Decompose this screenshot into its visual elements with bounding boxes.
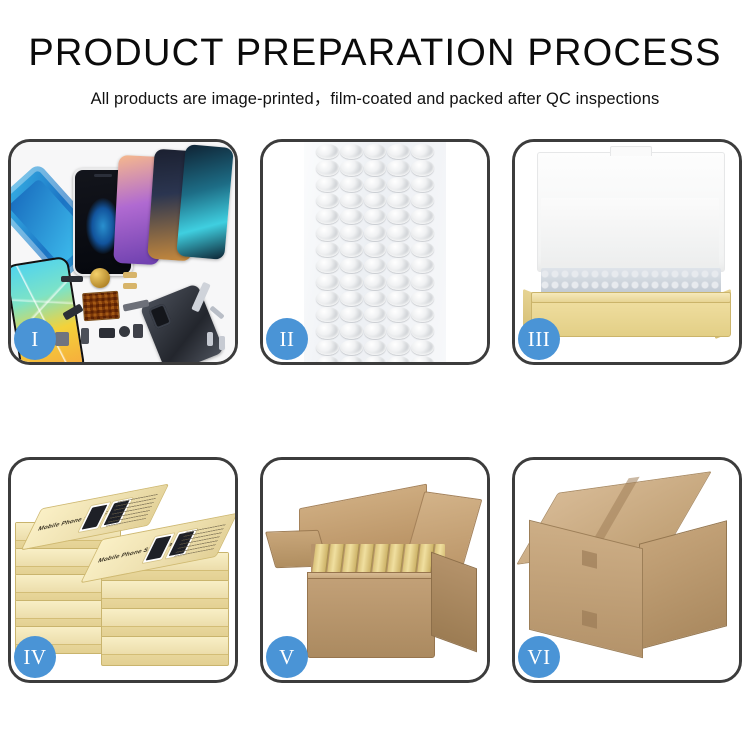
bubble — [387, 193, 410, 208]
carton-front-wall — [307, 578, 435, 658]
bubble — [387, 209, 410, 224]
bubble — [340, 160, 363, 175]
bubble — [340, 258, 363, 273]
bubble — [387, 356, 410, 362]
bubble — [364, 160, 387, 175]
bubble — [316, 340, 339, 355]
bubble — [340, 193, 363, 208]
bubble — [411, 307, 434, 322]
bubble — [411, 225, 434, 240]
bubble — [340, 307, 363, 322]
bubble — [411, 356, 434, 362]
spare-part — [119, 326, 130, 337]
bubble — [364, 356, 387, 362]
bubble — [387, 340, 410, 355]
carton-right-face — [639, 520, 727, 650]
bubble — [387, 144, 410, 159]
bubble — [364, 209, 387, 224]
step-badge-iv: IV — [14, 636, 56, 678]
bubble — [411, 209, 434, 224]
stacked-box — [101, 580, 229, 610]
page-title: PRODUCT PREPARATION PROCESS — [0, 34, 750, 72]
bubble — [316, 242, 339, 257]
bubble — [316, 258, 339, 273]
bubble — [387, 291, 410, 306]
bubble — [364, 274, 387, 289]
bubble — [340, 144, 363, 159]
bubble — [316, 307, 339, 322]
bubble — [316, 225, 339, 240]
step-panel-iv: Mobile Phone Spare Parts Mobile Phone Sp… — [8, 457, 238, 683]
spare-part — [123, 283, 137, 289]
bubble — [340, 356, 363, 362]
bubble — [364, 291, 387, 306]
step-panel-i: I — [8, 139, 238, 365]
bubble — [411, 144, 434, 159]
bubble — [316, 177, 339, 192]
bubble — [387, 242, 410, 257]
step-badge-vi: VI — [518, 636, 560, 678]
step-badge-v: V — [266, 636, 308, 678]
bubble — [411, 242, 434, 257]
mailer-rim — [531, 292, 731, 303]
chip-grid-part — [82, 291, 120, 321]
step-badge-i: I — [14, 318, 56, 360]
bubble-grid — [316, 144, 434, 362]
bubble — [340, 209, 363, 224]
bubble — [340, 225, 363, 240]
spare-part — [99, 328, 115, 338]
stacked-box — [101, 608, 229, 638]
step-panel-iii: III — [512, 139, 742, 365]
bubble — [364, 340, 387, 355]
bubble — [387, 307, 410, 322]
bubble — [316, 356, 339, 362]
bubble — [411, 160, 434, 175]
mailer-front-wall — [531, 297, 731, 337]
carton-side-wall — [431, 552, 477, 653]
phone-back-housing — [139, 283, 224, 362]
bubble — [316, 144, 339, 159]
bubble — [316, 291, 339, 306]
bubble — [411, 274, 434, 289]
bubble — [411, 258, 434, 273]
step-panel-ii: II — [260, 139, 490, 365]
bubble — [316, 323, 339, 338]
step-badge-iii: III — [518, 318, 560, 360]
bubble — [340, 177, 363, 192]
bubble — [387, 160, 410, 175]
bubble — [364, 177, 387, 192]
bubble — [340, 242, 363, 257]
bubble — [387, 225, 410, 240]
bubble — [364, 193, 387, 208]
bubble — [387, 177, 410, 192]
bubble — [411, 193, 434, 208]
bubble — [411, 340, 434, 355]
page-subtitle: All products are image-printed，film-coat… — [0, 85, 750, 109]
steps-grid: I II III — [8, 139, 742, 683]
screw-part — [207, 332, 213, 346]
step-panel-vi: VI — [512, 457, 742, 683]
spare-part — [123, 272, 137, 278]
bubble — [387, 258, 410, 273]
spare-part — [61, 276, 83, 282]
vibration-motor-part — [90, 268, 110, 288]
bubble — [364, 225, 387, 240]
bubble — [316, 193, 339, 208]
step-badge-ii: II — [266, 318, 308, 360]
teal-display-phone — [176, 144, 234, 260]
bubble — [364, 258, 387, 273]
foam-insert — [541, 198, 719, 270]
header: PRODUCT PREPARATION PROCESS All products… — [0, 0, 750, 109]
bubble — [340, 291, 363, 306]
step-panel-v: V — [260, 457, 490, 683]
bubble — [411, 291, 434, 306]
bubble — [387, 323, 410, 338]
bubble — [316, 209, 339, 224]
spare-part — [55, 332, 69, 346]
bubble — [316, 160, 339, 175]
bubble — [340, 274, 363, 289]
bubble — [364, 307, 387, 322]
bubble — [387, 274, 410, 289]
bubble — [411, 177, 434, 192]
spare-part — [133, 324, 143, 338]
bubble — [411, 323, 434, 338]
product-preparation-infographic: PRODUCT PREPARATION PROCESS All products… — [0, 0, 750, 750]
stacked-box — [101, 636, 229, 666]
bubble — [340, 323, 363, 338]
spare-part — [209, 305, 224, 319]
screw-part — [219, 336, 225, 350]
bubble — [364, 144, 387, 159]
bubble — [340, 340, 363, 355]
spare-part — [81, 328, 89, 344]
bubble — [364, 242, 387, 257]
bubble — [316, 274, 339, 289]
bubble — [364, 323, 387, 338]
